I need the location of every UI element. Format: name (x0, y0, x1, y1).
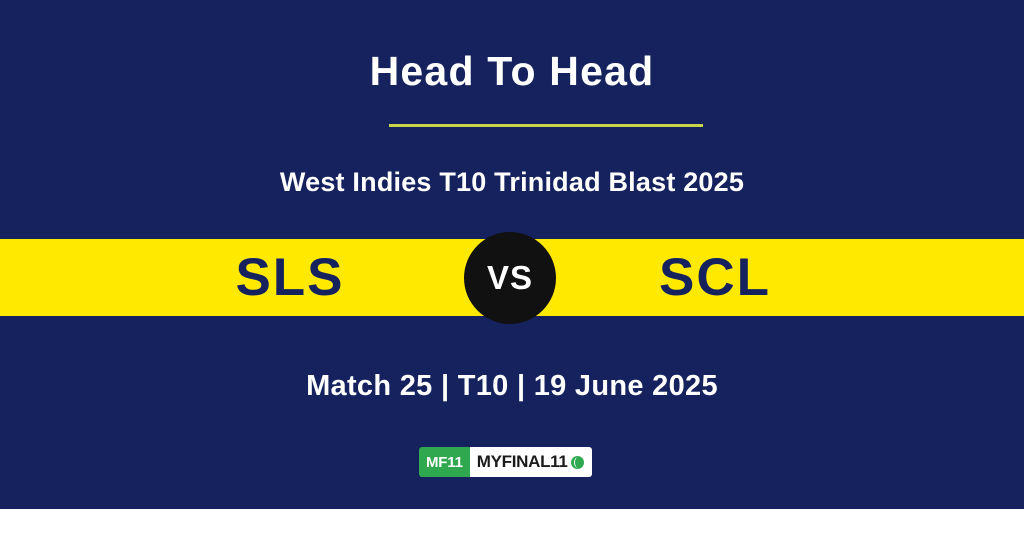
tournament-name: West Indies T10 Trinidad Blast 2025 (0, 167, 1024, 198)
page-title: Head To Head (0, 48, 1024, 95)
bottom-strip (0, 509, 1024, 536)
logo-wordmark-text: MYFINAL11 (477, 452, 568, 472)
cricket-ball-icon (571, 456, 584, 469)
title-underline-divider (389, 124, 703, 127)
myfinal11-logo: MF11 MYFINAL11 (419, 447, 592, 477)
logo-mark-text: MF11 (419, 447, 470, 477)
team-left-abbr: SLS (140, 239, 440, 316)
match-info-line: Match 25 | T10 | 19 June 2025 (0, 370, 1024, 403)
team-right-abbr: SCL (565, 239, 865, 316)
vs-badge: VS (464, 232, 556, 324)
head-to-head-banner: Head To Head West Indies T10 Trinidad Bl… (0, 0, 1024, 536)
logo-wordmark: MYFINAL11 (470, 447, 592, 477)
